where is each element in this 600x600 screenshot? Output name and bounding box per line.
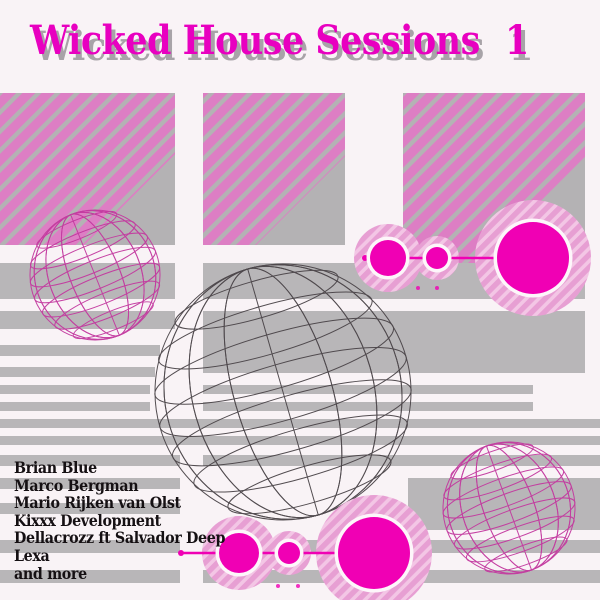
sphere-longitude <box>71 215 120 336</box>
circle-row-top <box>354 200 591 316</box>
sphere-latitude <box>482 531 571 579</box>
gray-band <box>0 367 155 377</box>
artist-name: and more <box>14 565 225 583</box>
gray-band <box>203 263 585 299</box>
connector-end-dot <box>362 255 368 261</box>
gray-band <box>203 540 600 553</box>
sphere-longitude <box>429 425 589 591</box>
circle-striped-halo <box>267 531 311 575</box>
magenta-circle <box>497 222 569 294</box>
sphere-latitude <box>33 205 120 255</box>
circle-striped-halo <box>415 236 459 280</box>
gray-band <box>0 436 600 445</box>
gray-band <box>203 385 533 394</box>
magenta-circle <box>338 517 410 589</box>
circle-striped-halo <box>354 224 422 292</box>
striped-triangle <box>203 93 408 298</box>
gray-band <box>203 311 585 373</box>
album-volume-number: 1 <box>505 17 529 64</box>
circle-striped-halo <box>316 495 432 600</box>
magenta-circle <box>370 240 406 276</box>
circle-white-ring <box>423 244 452 273</box>
sphere-pink-left <box>10 190 179 359</box>
sphere-latitude <box>223 443 396 525</box>
artist-name: Dellacrozz ft Salvador Deep <box>14 529 225 547</box>
sphere-latitude <box>450 488 580 558</box>
magenta-circle <box>426 247 448 269</box>
gray-block-base <box>0 93 175 245</box>
gray-band <box>0 311 175 329</box>
sphere-latitude <box>29 237 160 312</box>
gray-band <box>0 263 175 299</box>
small-mark-dot <box>276 584 280 588</box>
sphere-longitude <box>463 437 556 578</box>
sphere-longitude <box>15 192 175 358</box>
sphere-latitude <box>152 276 379 384</box>
small-mark-dot <box>416 286 420 290</box>
gray-band <box>0 345 160 356</box>
striped-triangle <box>403 93 600 339</box>
artist-name: Mario Rijken van Olst <box>14 494 225 512</box>
sphere-latitude <box>38 254 165 327</box>
circle-white-ring <box>494 219 573 298</box>
sphere-latitude <box>50 273 164 338</box>
sphere-outline <box>424 423 593 592</box>
artist-name: Kixxx Development <box>14 512 225 530</box>
gray-band <box>408 478 600 530</box>
gray-band <box>203 455 600 466</box>
striped-gray-blocks <box>0 93 600 339</box>
small-mark-dot <box>435 286 439 290</box>
sphere-longitude <box>443 430 576 586</box>
sphere-longitude <box>486 446 531 570</box>
sphere-latitude <box>442 472 576 544</box>
circle-striped-halo <box>475 200 591 316</box>
block-top-right <box>403 93 600 339</box>
sphere-longitude <box>463 437 556 578</box>
artist-list: Brian BlueMarco BergmanMario Rijken van … <box>14 459 243 582</box>
artist-name: Brian Blue <box>14 459 225 477</box>
small-mark-dot <box>296 584 300 588</box>
gray-block-base <box>403 93 585 265</box>
sphere-latitude <box>25 224 152 297</box>
gray-band <box>0 402 150 411</box>
gray-block-base <box>203 93 345 245</box>
album-title: Wicked House Sessions1 Wicked House Sess… <box>30 18 590 72</box>
block-top-mid <box>203 93 408 298</box>
album-title-text: Wicked House Sessions1 <box>30 18 529 64</box>
album-title-main-words: Wicked House Sessions <box>30 17 480 64</box>
sphere-pink-right <box>424 423 593 592</box>
sphere-latitude <box>170 258 343 340</box>
circle-white-ring <box>275 539 304 568</box>
sphere-longitude <box>443 430 576 586</box>
sphere-longitude <box>15 192 175 358</box>
sphere-latitude <box>70 295 157 345</box>
sphere-outline <box>10 190 179 359</box>
sphere-longitude <box>28 198 162 353</box>
striped-triangle <box>0 93 236 329</box>
gray-band <box>0 419 600 428</box>
sphere-longitude <box>248 269 319 515</box>
sphere-latitude <box>148 301 401 422</box>
sphere-longitude <box>429 425 589 591</box>
sphere-latitude <box>26 212 140 277</box>
sphere-longitude <box>28 198 162 353</box>
sphere-longitude <box>48 205 143 344</box>
gray-band <box>203 402 533 411</box>
circle-white-ring <box>335 514 414 593</box>
gray-band <box>0 385 150 394</box>
sphere-latitude <box>152 330 414 455</box>
sphere-longitude <box>48 205 143 344</box>
artist-name: Marco Bergman <box>14 477 225 495</box>
sphere-latitude <box>462 508 578 571</box>
sphere-latitude <box>448 438 537 486</box>
circle-white-ring <box>367 237 410 280</box>
sphere-latitude <box>438 457 568 527</box>
block-top-left <box>0 93 236 329</box>
magenta-circle <box>278 542 300 564</box>
album-cover-artwork: Wicked House Sessions1 Wicked House Sess… <box>0 0 600 600</box>
gray-band <box>203 570 600 583</box>
sphere-latitude <box>440 446 556 509</box>
artist-name: Lexa <box>14 547 225 565</box>
